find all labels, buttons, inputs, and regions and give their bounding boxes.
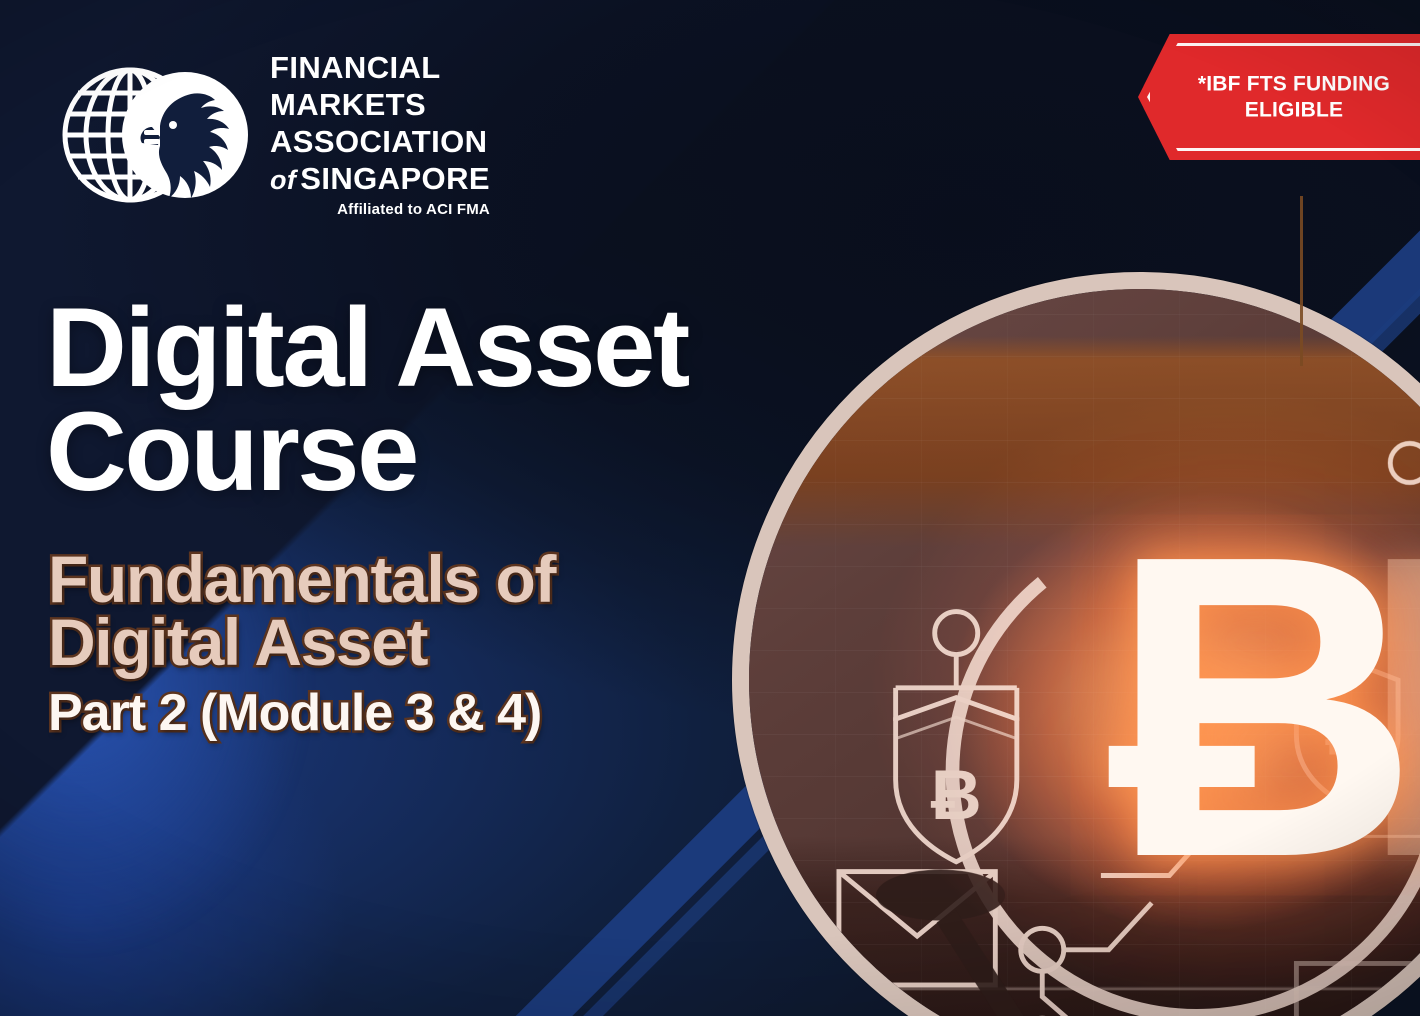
vignette-overlay: [0, 0, 1420, 1016]
course-poster: Ƀ Ƀ: [0, 0, 1420, 1016]
